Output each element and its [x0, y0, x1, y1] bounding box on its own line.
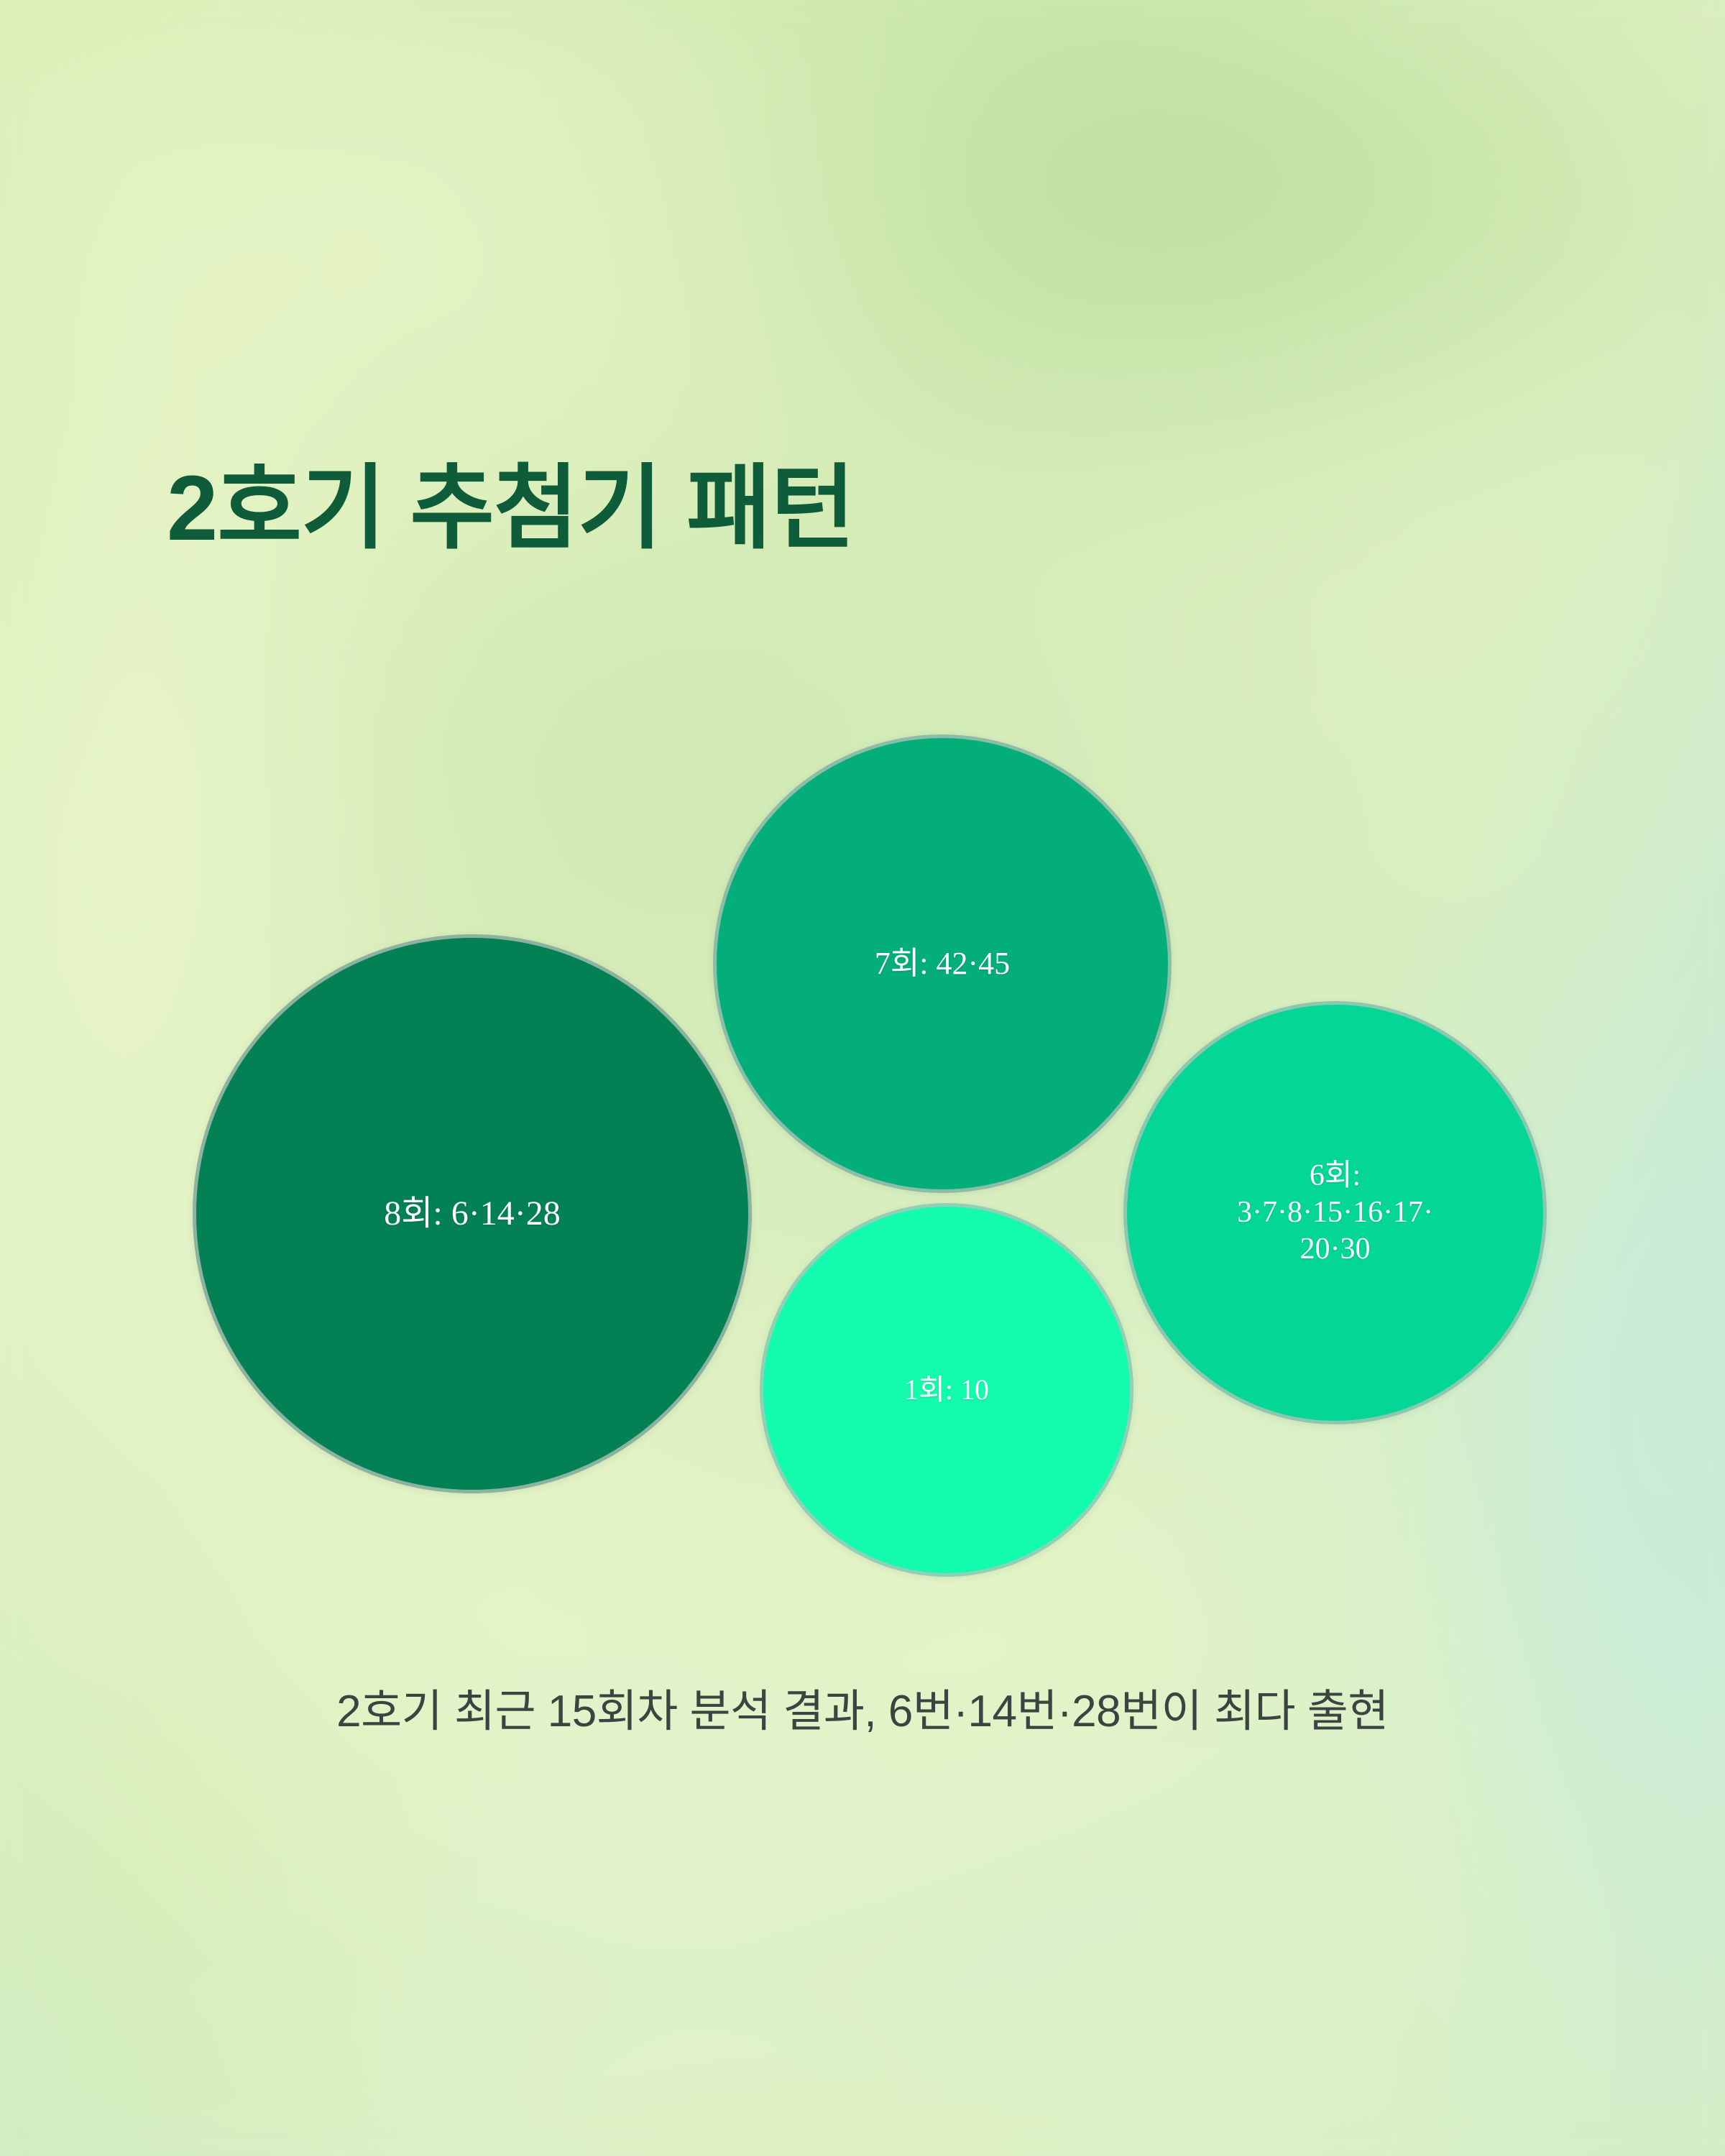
bubble-label: 7회: 42·45 [847, 944, 1037, 983]
bubble-6hoe[interactable]: 6회: 3·7·8·15·16·17· 20·30 [1123, 1001, 1547, 1424]
bubble-chart: 8회: 6·14·28 7회: 42·45 6회: 3·7·8·15·16·17… [0, 0, 1725, 2156]
chart-caption: 2호기 최근 15회차 분석 결과, 6번·14번·28번이 최다 출현 [0, 1674, 1725, 1739]
bubble-8hoe[interactable]: 8회: 6·14·28 [193, 934, 752, 1493]
page-title: 2호기 추첨기 패턴 [167, 459, 855, 560]
bubble-label: 6회: 3·7·8·15·16·17· 20·30 [1212, 1158, 1458, 1268]
bubble-7hoe[interactable]: 7회: 42·45 [713, 734, 1172, 1193]
bubble-1hoe[interactable]: 1회: 10 [760, 1203, 1133, 1577]
bubble-label: 1회: 10 [882, 1373, 1011, 1408]
bubble-label: 8회: 6·14·28 [351, 1193, 594, 1235]
poster-canvas: 2호기 추첨기 패턴 8회: 6·14·28 7회: 42·45 6회: 3·7… [0, 0, 1725, 2156]
